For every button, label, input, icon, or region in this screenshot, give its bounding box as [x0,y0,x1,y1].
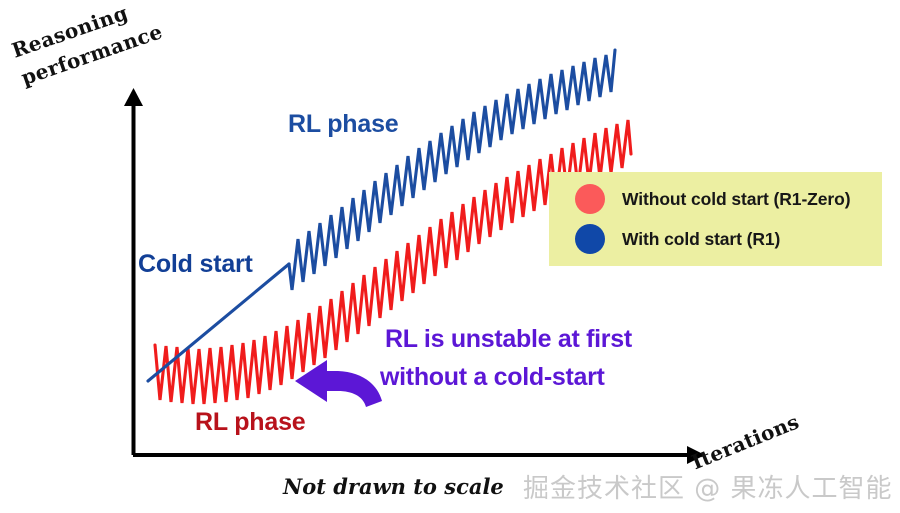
figure-canvas: Reasoning performance Iterations RL phas… [0,0,900,513]
curved-left-arrow-icon [295,360,382,407]
watermark: 掘金技术社区 @ 果冻人工智能 [523,468,893,505]
legend-item-without-cold-start: Without cold start (R1-Zero) [575,184,850,214]
legend-item-with-cold-start: With cold start (R1) [575,224,780,254]
legend-label-with-cold-start: With cold start (R1) [622,229,780,250]
red-circle-icon [575,184,605,214]
footnote-not-drawn-to-scale: Not drawn to scale [283,474,504,499]
label-cold-start: Cold start [138,250,253,279]
legend-label-without-cold-start: Without cold start (R1-Zero) [622,189,850,210]
annotation-line2: without a cold-start [380,363,605,392]
annotation-line1: RL is unstable at first [385,325,632,354]
label-rl-phase-blue: RL phase [288,110,398,139]
legend: Without cold start (R1-Zero) With cold s… [549,172,882,266]
label-rl-phase-red: RL phase [195,408,305,437]
x-axis [133,446,705,464]
blue-circle-icon [575,224,605,254]
